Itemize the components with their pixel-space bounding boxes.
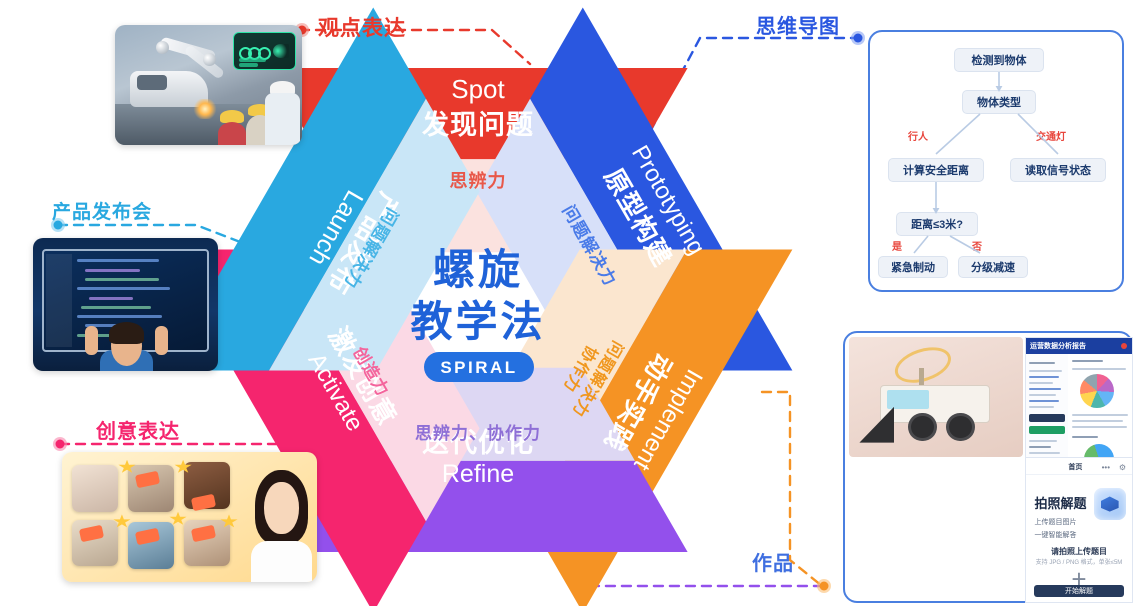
mm-node-brake[interactable]: 紧急制动 (878, 256, 948, 278)
connector-label-works: 作品 (752, 547, 794, 576)
more-icon[interactable]: ••• (1102, 463, 1110, 472)
mindmap-panel: 检测到物体 物体类型 计算安全距离 读取信号状态 距离≤3米? 紧急制动 分级减… (868, 30, 1124, 292)
connector-label-viewpoint: 观点表达 (318, 12, 406, 42)
works-mobile-app[interactable]: 首页 ••• ⚙ 拍照解题 上传题目图片 一键智能解答 请拍照上传题目 支持 J… (1025, 457, 1133, 603)
mobile-sub2: 一键智能解答 (1034, 530, 1076, 540)
center-title-line1: 螺旋 (433, 245, 523, 294)
mm-node-type[interactable]: 物体类型 (962, 90, 1036, 114)
connector-line-mindmap (652, 38, 860, 128)
photo-solve-icon (1094, 488, 1126, 520)
dashboard-title: 运营数据分析报告 (1030, 341, 1086, 351)
center-title-line2: 教学法 (410, 297, 545, 346)
mm-edge-label-trafficlight: 交通灯 (1036, 128, 1066, 143)
connector-dot-creative-core (56, 440, 65, 449)
mm-edge-label-no: 否 (972, 238, 982, 253)
mobile-sub1: 上传题目图片 (1034, 517, 1076, 527)
connector-label-creative: 创意表达 (96, 415, 180, 444)
connector-label-mindmap: 思维导图 (756, 10, 840, 39)
works-photo-robot-car (849, 337, 1023, 457)
center-badge-label: SPIRAL (440, 358, 517, 377)
segment-skill-spot: 思辨力 (450, 170, 507, 192)
connector-dot-mindmap-core (854, 34, 863, 43)
mm-edge-label-yes: 是 (892, 238, 902, 253)
photo-product-launch-screen (33, 238, 218, 371)
segment-label-spot-en: Spot (451, 74, 505, 104)
mm-node-slow[interactable]: 分级减速 (958, 256, 1028, 278)
segment-label-refine-en: Refine (442, 460, 514, 488)
dashboard-sidebar (1026, 354, 1069, 458)
mobile-heading: 拍照解题 (1034, 493, 1086, 512)
mobile-start-button[interactable]: 开始解题 (1034, 585, 1123, 597)
photo-kids-creative-collage (62, 452, 317, 582)
mobile-tab-home[interactable]: 首页 (1068, 462, 1082, 472)
mm-node-safedist[interactable]: 计算安全距离 (888, 158, 984, 182)
works-dashboard-report[interactable]: 运营数据分析报告 (1025, 337, 1133, 459)
dashboard-content (1068, 354, 1132, 458)
dashboard-notify-dot (1121, 343, 1127, 349)
segment-label-spot-cn: 发现问题 (421, 109, 534, 141)
mobile-upload-title: 请拍照上传题目 (1026, 546, 1132, 557)
works-panel: 运营数据分析报告 (843, 331, 1133, 603)
connector-dot-works-core (820, 582, 829, 591)
mm-node-question[interactable]: 距离≤3米? (896, 212, 978, 236)
gear-icon[interactable]: ⚙ (1119, 463, 1126, 472)
mm-edge-label-pedestrian: 行人 (908, 128, 928, 143)
connector-label-launchevent: 产品发布会 (52, 197, 152, 224)
segment-skill-refine: 思辨力、协作力 (415, 423, 541, 444)
infographic-canvas: Spot 发现问题 思辨力 Prototyping 原型构建 问题解决力 Imp… (0, 0, 1137, 606)
mm-node-signal[interactable]: 读取信号状态 (1010, 158, 1106, 182)
mm-node-detect[interactable]: 检测到物体 (954, 48, 1044, 72)
photo-factory-robotics (115, 25, 302, 145)
